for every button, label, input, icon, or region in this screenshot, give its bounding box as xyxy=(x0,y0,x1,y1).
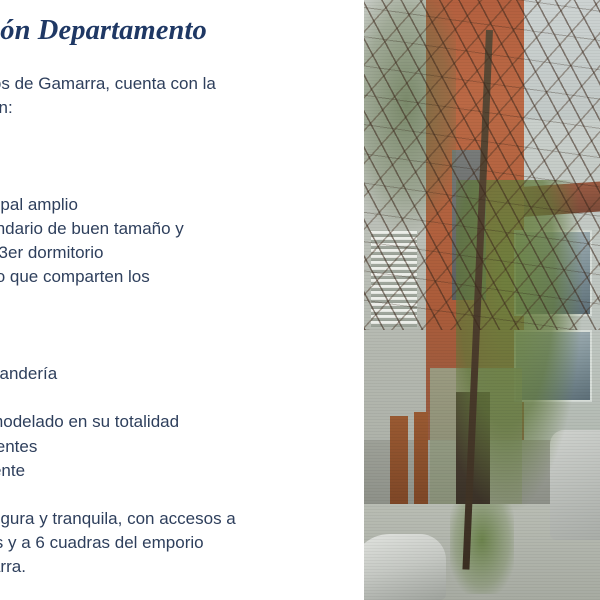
photo-shrub xyxy=(450,504,514,594)
photo-parked-car xyxy=(364,534,446,600)
page-title: scripción Departamento xyxy=(0,0,364,48)
list-item: torios xyxy=(0,290,364,314)
list-item: torio principal amplio xyxy=(0,193,364,217)
photo-tree-branches xyxy=(364,0,600,330)
photo-canvas xyxy=(364,0,600,600)
text-pane: scripción Departamento a 5 minutos de Ga… xyxy=(0,0,364,600)
extra-features-paragraph: mento remodelado en su totalidad indepen… xyxy=(0,410,364,483)
list-item: o patio/lavandería xyxy=(0,362,364,386)
intro-line-2: distribución: xyxy=(0,96,364,120)
zone-paragraph: e zona, segura y tranquila, con accesos … xyxy=(0,507,364,580)
zone-line-3: l de Gamarra. xyxy=(0,555,364,579)
rooms-list: a Sala dor torio principal amplio torio … xyxy=(0,144,364,386)
list-item: dor xyxy=(0,169,364,193)
building-photo xyxy=(364,0,600,600)
list-item: recibidor xyxy=(0,338,364,362)
photo-door xyxy=(414,412,428,504)
list-item: torio secundario de buen tamaño y xyxy=(0,217,364,241)
text-content-block: scripción Departamento a 5 minutos de Ga… xyxy=(0,0,364,580)
extra-line-3: ndependiente xyxy=(0,459,364,483)
list-item: a xyxy=(0,314,364,338)
intro-line-1: a 5 minutos de Gamarra, cuenta con la xyxy=(0,72,364,96)
zone-line-2: principales y a 6 cuadras del emporio xyxy=(0,531,364,555)
extra-line-2: independientes xyxy=(0,435,364,459)
photo-door xyxy=(390,416,408,504)
intro-paragraph: a 5 minutos de Gamarra, cuenta con la di… xyxy=(0,72,364,120)
list-item: o para un 3er dormitorio xyxy=(0,241,364,265)
zone-line-1: e zona, segura y tranquila, con accesos … xyxy=(0,507,364,531)
extra-line-1: mento remodelado en su totalidad xyxy=(0,410,364,434)
list-item: o completo que comparten los xyxy=(0,265,364,289)
list-item: a Sala xyxy=(0,144,364,168)
slide-root: scripción Departamento a 5 minutos de Ga… xyxy=(0,0,600,600)
